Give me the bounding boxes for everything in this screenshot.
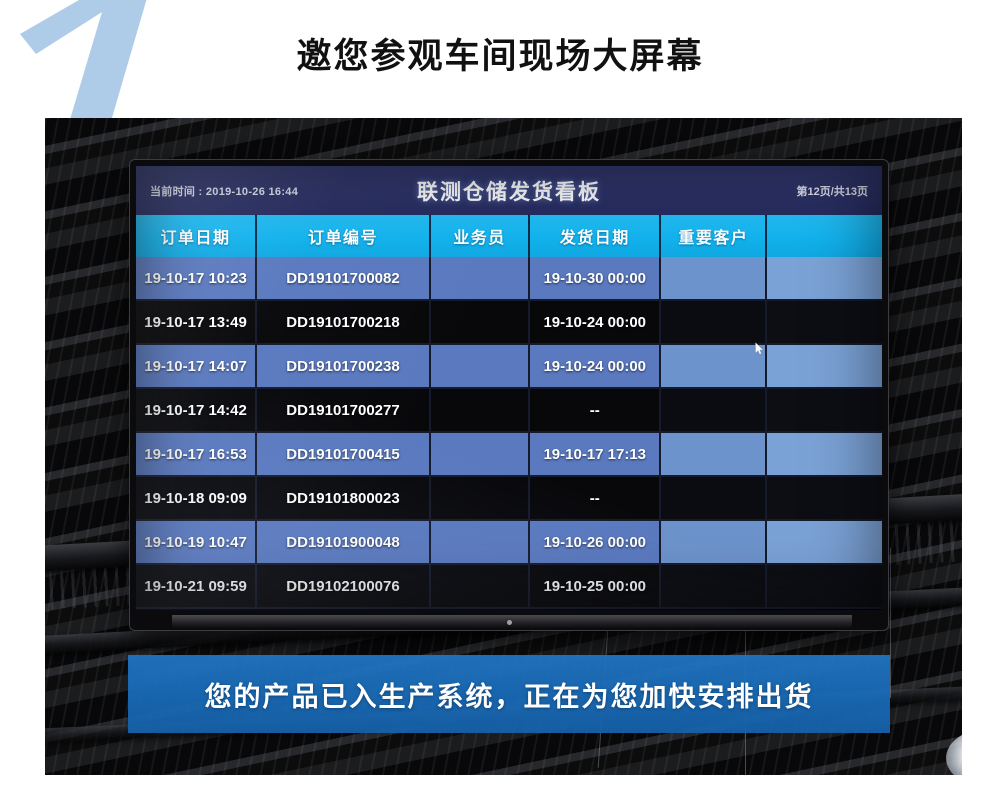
cell-order-date: 19-10-17 14:42 [136, 388, 256, 432]
cell-salesperson [430, 344, 529, 388]
cell-extra [766, 520, 882, 564]
display-power-led [507, 620, 512, 625]
cell-extra [766, 300, 882, 344]
lamp-bulb [946, 727, 962, 775]
cell-key-customer [660, 432, 766, 476]
cell-ship-date: 19-10-26 00:00 [529, 520, 660, 564]
shipment-board-table: 订单日期 订单编号 业务员 发货日期 重要客户 19-10-17 10:23 D… [136, 215, 882, 609]
cell-order-no: DD19101700238 [256, 344, 430, 388]
cell-order-no: DD19101700218 [256, 300, 430, 344]
table-row: 19-10-17 14:42 DD19101700277 -- [136, 388, 882, 432]
cell-salesperson [430, 476, 529, 520]
ceiling-lamp [932, 683, 962, 775]
cell-ship-date: 19-10-24 00:00 [529, 300, 660, 344]
cell-key-customer [660, 344, 766, 388]
cell-salesperson [430, 300, 529, 344]
cell-ship-date: -- [529, 388, 660, 432]
table-row: 19-10-21 09:59 DD19102100076 19-10-25 00… [136, 564, 882, 608]
table-row: 19-10-17 10:23 DD19101700082 19-10-30 00… [136, 257, 882, 300]
dashboard-header: 当前时间 : 2019-10-26 16:44 联测仓储发货看板 第12页/共1… [136, 166, 882, 215]
cell-key-customer [660, 476, 766, 520]
wall-display: 当前时间 : 2019-10-26 16:44 联测仓储发货看板 第12页/共1… [130, 160, 888, 630]
display-screen: 当前时间 : 2019-10-26 16:44 联测仓储发货看板 第12页/共1… [136, 166, 882, 610]
cell-key-customer [660, 257, 766, 300]
table-row: 19-10-19 10:47 DD19101900048 19-10-26 00… [136, 520, 882, 564]
table-row: 19-10-17 14:07 DD19101700238 19-10-24 00… [136, 344, 882, 388]
cell-order-no: DD19101800023 [256, 476, 430, 520]
column-header-order-no: 订单编号 [256, 215, 430, 257]
cell-salesperson [430, 388, 529, 432]
cell-extra [766, 257, 882, 300]
cell-salesperson [430, 432, 529, 476]
column-header-key-customer: 重要客户 [660, 215, 766, 257]
cell-order-date: 19-10-17 16:53 [136, 432, 256, 476]
current-time-label: 当前时间 : 2019-10-26 16:44 [150, 183, 298, 199]
hanger-wire [890, 548, 891, 698]
cell-order-no: DD19102100076 [256, 564, 430, 608]
cell-ship-date: 19-10-17 17:13 [529, 432, 660, 476]
column-header-order-date: 订单日期 [136, 215, 256, 257]
cell-extra [766, 432, 882, 476]
cell-extra [766, 388, 882, 432]
cell-ship-date: 19-10-25 00:00 [529, 564, 660, 608]
cell-order-no: DD19101900048 [256, 520, 430, 564]
column-header-blank [766, 215, 882, 257]
cell-ship-date: 19-10-30 00:00 [529, 257, 660, 300]
cell-key-customer [660, 388, 766, 432]
column-header-ship-date: 发货日期 [529, 215, 660, 257]
cell-ship-date: -- [529, 476, 660, 520]
cell-order-date: 19-10-17 13:49 [136, 300, 256, 344]
promo-banner: 您的产品已入生产系统，正在为您加快安排出货 [128, 655, 890, 733]
table-row: 19-10-17 13:49 DD19101700218 19-10-24 00… [136, 300, 882, 344]
cell-key-customer [660, 300, 766, 344]
cell-order-date: 19-10-17 10:23 [136, 257, 256, 300]
cell-order-no: DD19101700082 [256, 257, 430, 300]
workshop-photo: 当前时间 : 2019-10-26 16:44 联测仓储发货看板 第12页/共1… [45, 118, 962, 775]
page-title: 邀您参观车间现场大屏幕 [0, 28, 1000, 79]
cell-salesperson [430, 257, 529, 300]
table-row: 19-10-18 09:09 DD19101800023 -- [136, 476, 882, 520]
cell-order-date: 19-10-18 09:09 [136, 476, 256, 520]
cell-extra [766, 344, 882, 388]
display-bottom-bezel [172, 615, 852, 628]
promo-banner-text: 您的产品已入生产系统，正在为您加快安排出货 [205, 675, 814, 714]
cell-salesperson [430, 520, 529, 564]
cell-extra [766, 564, 882, 608]
cell-order-no: DD19101700415 [256, 432, 430, 476]
column-header-salesperson: 业务员 [430, 215, 529, 257]
table-row: 19-10-17 16:53 DD19101700415 19-10-17 17… [136, 432, 882, 476]
cell-ship-date: 19-10-24 00:00 [529, 344, 660, 388]
table-header-row: 订单日期 订单编号 业务员 发货日期 重要客户 [136, 215, 882, 257]
cell-order-date: 19-10-19 10:47 [136, 520, 256, 564]
page-indicator: 第12页/共13页 [796, 183, 868, 199]
cell-order-date: 19-10-21 09:59 [136, 564, 256, 608]
cell-extra [766, 476, 882, 520]
cell-salesperson [430, 564, 529, 608]
cell-order-no: DD19101700277 [256, 388, 430, 432]
cell-order-date: 19-10-17 14:07 [136, 344, 256, 388]
cell-key-customer [660, 564, 766, 608]
cell-key-customer [660, 520, 766, 564]
